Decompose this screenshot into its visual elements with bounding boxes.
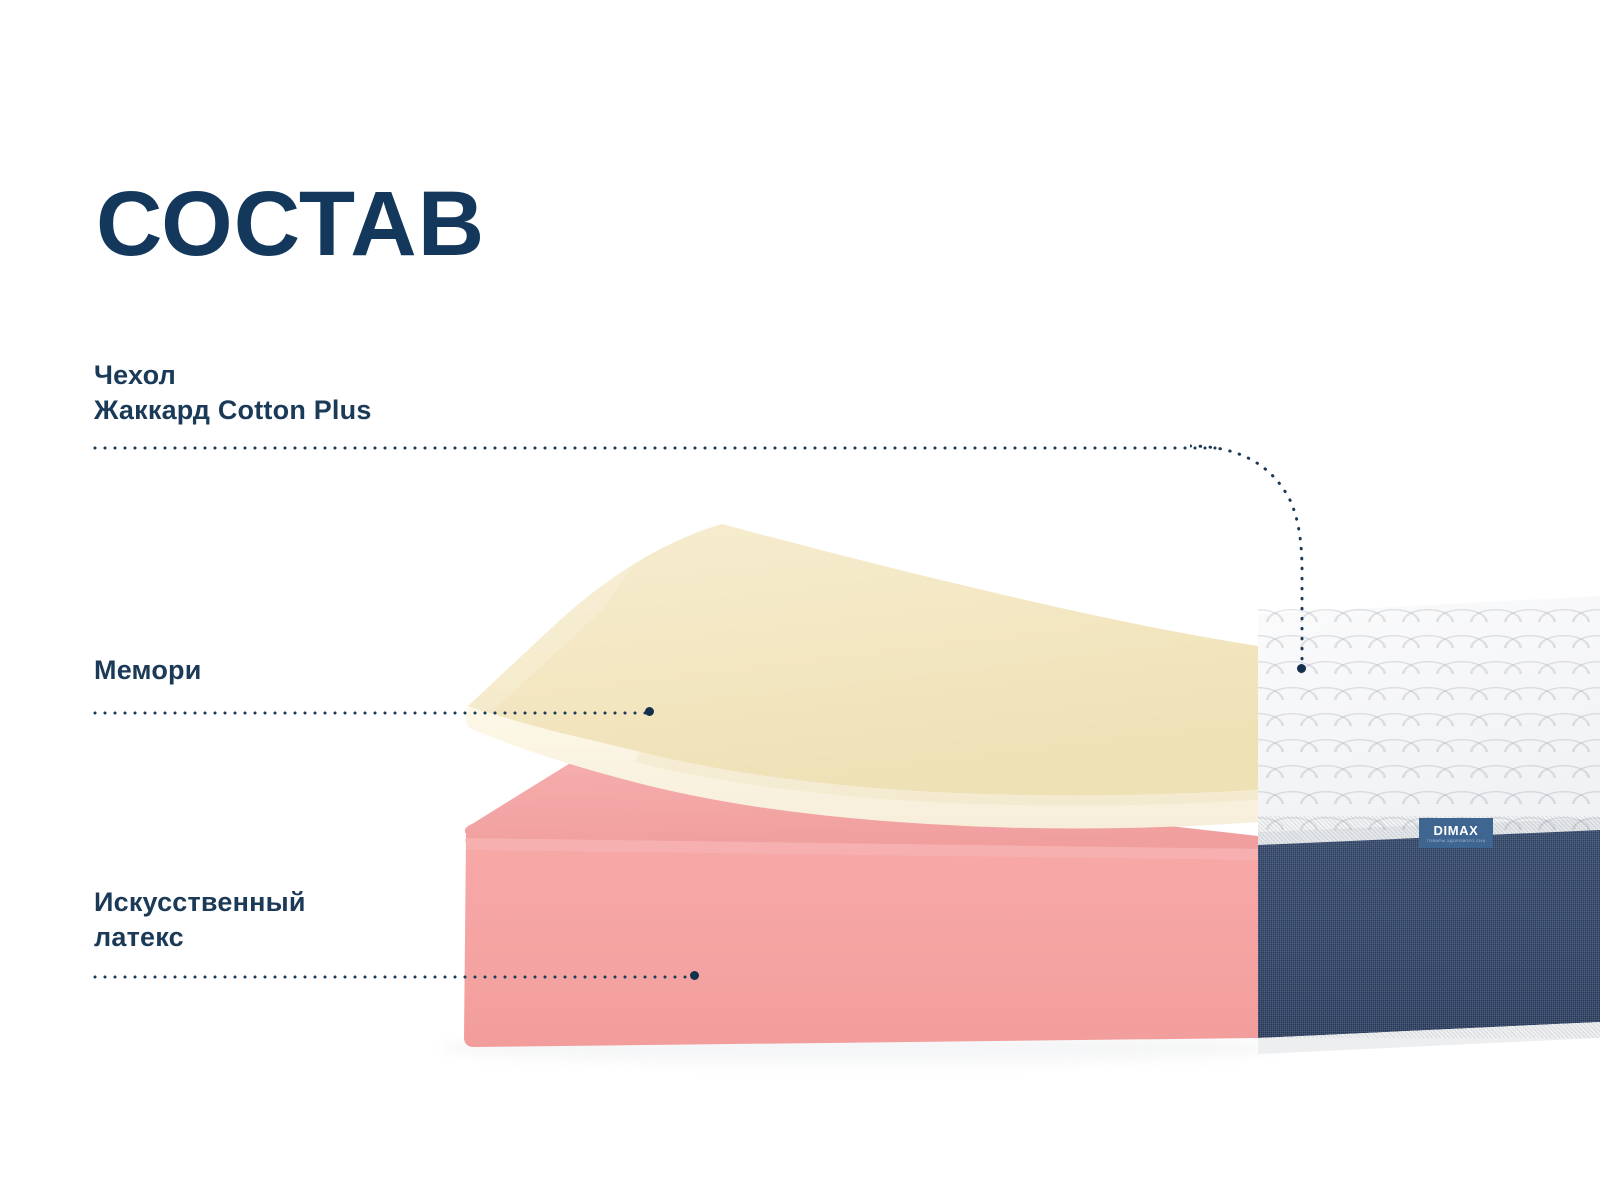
side-panel-weave-texture <box>1258 816 1600 1038</box>
mattress-side-panel <box>1258 830 1600 1054</box>
memory-foam-tip-highlight <box>468 556 640 712</box>
leader-curve-cover <box>1190 430 1320 675</box>
latex-foam-layer <box>464 759 1258 1047</box>
callout-label-latex: Искусственный латекс <box>94 885 306 954</box>
leader-line-latex <box>90 975 691 979</box>
dimax-brand-badge: DIMAX ТОВАРЫ ЗДОРОВОГО СНА <box>1419 818 1493 848</box>
memory-foam-shading <box>634 752 1258 806</box>
memory-foam-edge <box>465 706 1258 829</box>
memory-foam-top-face <box>468 524 1258 796</box>
leader-endpoint-cover <box>1297 664 1306 673</box>
callout-label-cover: Чехол Жаккард Cotton Plus <box>94 358 372 427</box>
leader-line-cover <box>90 446 1220 450</box>
latex-front-face <box>464 838 1258 1047</box>
bottom-piping <box>1258 1022 1600 1054</box>
mattress-cover <box>1258 596 1600 845</box>
callout-label-memory: Мемори <box>94 653 202 688</box>
memory-foam-layer <box>465 524 1258 829</box>
cover-top-face <box>1258 596 1600 832</box>
leader-endpoint-latex <box>690 971 699 980</box>
dimax-brand-tagline: ТОВАРЫ ЗДОРОВОГО СНА <box>1426 839 1485 843</box>
leader-line-memory <box>90 711 646 715</box>
latex-shadow <box>440 1032 1280 1064</box>
page-title: СОСТАВ <box>96 178 485 270</box>
infographic-canvas: DIMAX ТОВАРЫ ЗДОРОВОГО СНА СОСТАВ Чехол … <box>0 0 1600 1201</box>
dimax-brand-name: DIMAX <box>1434 824 1479 837</box>
latex-top-highlight <box>466 838 1258 860</box>
latex-top-face <box>465 759 1258 849</box>
cover-quilt-texture <box>1258 596 1600 832</box>
side-panel-face <box>1258 830 1600 1038</box>
leader-endpoint-memory <box>645 707 654 716</box>
